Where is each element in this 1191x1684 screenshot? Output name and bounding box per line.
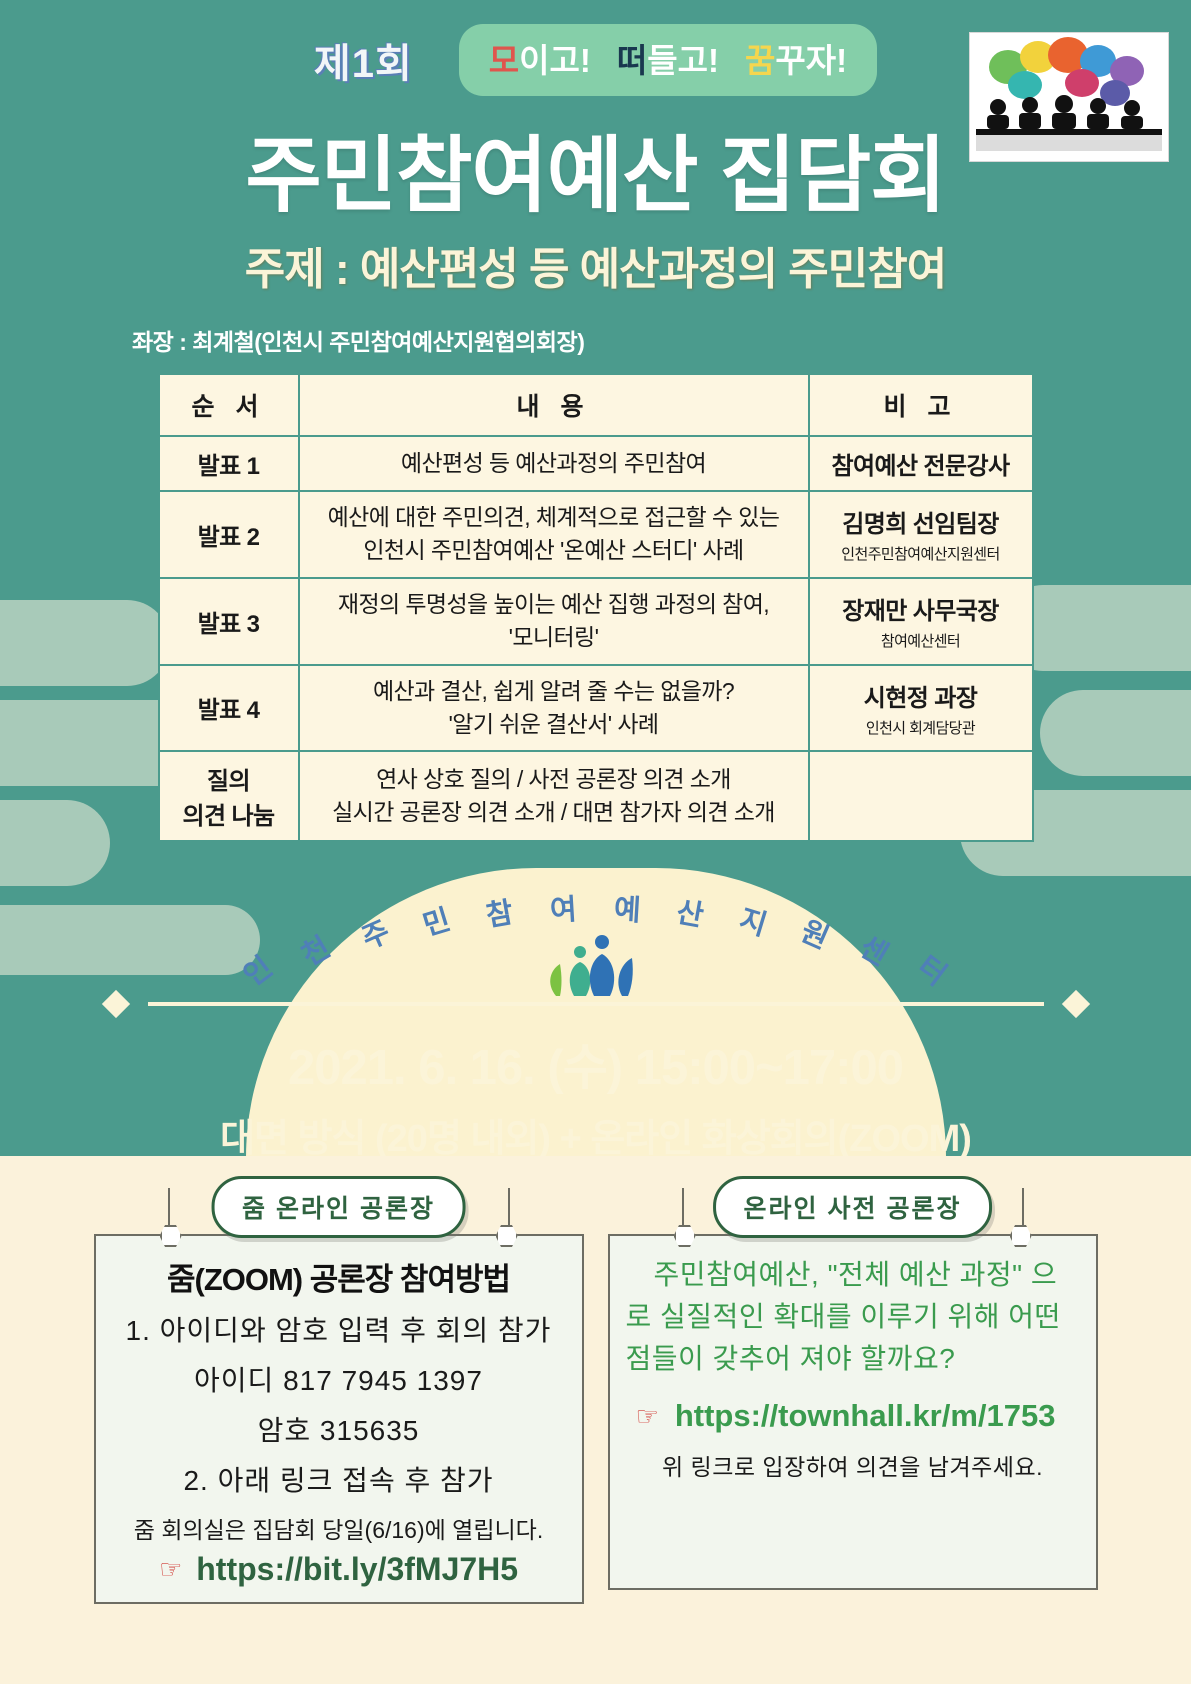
subject-line: 주제 : 예산편성 등 예산과정의 주민참여 [0,233,1191,297]
forum-panel-tab: 온라인 사전 공론장 [713,1176,993,1238]
row-detail-line: 인천시 주민참여예산 '온예산 스터디' 사례 [304,534,804,567]
forum-panel: 온라인 사전 공론장 주민참여예산, "전체 예산 과정" 으로 실질적인 확대… [608,1234,1098,1604]
center-arch-text: 인천주민참여예산지원센터 [429,886,761,928]
zoom-meeting-id: 아이디 817 7945 1397 [112,1359,566,1399]
decor-shape [1040,690,1191,776]
slogan-3-highlight: 꿈 [745,42,775,79]
zoom-panel-body: 줌(ZOOM) 공론장 참여방법 1. 아이디와 암호 입력 후 회의 참가 아… [94,1234,584,1604]
row-note: 김명희 선임팀장 인천주민참여예산지원센터 [809,491,1033,578]
table-row: 질의 의견 나눔 연사 상호 질의 / 사전 공론장 의견 소개 실시간 공론장… [159,751,1033,841]
event-date: 2021. 6. 16. (수) 15:00~17:00 [0,1028,1191,1099]
row-detail: 예산에 대한 주민의견, 체계적으로 접근할 수 있는 인천시 주민참여예산 '… [299,491,809,578]
row-detail-line: 연사 상호 질의 / 사전 공론장 의견 소개 [304,763,804,796]
forum-question: 주민참여예산, "전체 예산 과정" 으로 실질적인 확대를 이루기 위해 어떤… [626,1254,1080,1380]
table-row: 발표 1 예산편성 등 예산과정의 주민참여 참여예산 전문강사 [159,436,1033,491]
diamond-right-icon [1061,990,1089,1018]
event-mode: 대면 방식 (20명 내외) + 온라인 화상회의(ZOOM) [0,1107,1191,1162]
row-note-sub: 참여예산센터 [814,630,1028,651]
row-detail-line: 실시간 공론장 의견 소개 / 대면 참가자 의견 소개 [304,796,804,829]
zoom-link-row[interactable]: ☞ https://bit.ly/3fMJ7H5 [112,1551,566,1588]
zoom-step-1: 1. 아이디와 암호 입력 후 회의 참가 [112,1309,566,1349]
row-detail-line: 예산과 결산, 쉽게 알려 줄 수는 없을까? [304,675,804,708]
table-header-row: 순 서 내 용 비 고 [159,374,1033,436]
row-order: 질의 의견 나눔 [159,751,299,841]
header-top-row: 제1회 모이고! 떠들고! 꿈꾸자! [0,24,1191,96]
zoom-password: 암호 315635 [112,1409,566,1449]
poster-header: 제1회 모이고! 떠들고! 꿈꾸자! [0,0,1191,357]
row-order: 발표 1 [159,436,299,491]
row-note-main: 장재만 사무국장 [814,591,1028,626]
slogan-3-rest: 꾸자! [775,42,847,79]
row-detail-line: 예산에 대한 주민의견, 체계적으로 접근할 수 있는 [304,501,804,534]
row-note-sub: 인천시 회계담당관 [814,717,1028,738]
zoom-note: 줌 회의실은 집담회 당일(6/16)에 열립니다. [112,1511,566,1545]
row-order: 발표 4 [159,665,299,752]
table-row: 발표 3 재정의 투명성을 높이는 예산 집행 과정의 참여, '모니터링' 장… [159,578,1033,665]
panel-row: 줌 온라인 공론장 줌(ZOOM) 공론장 참여방법 1. 아이디와 암호 입력… [0,1156,1191,1604]
slogan-item-1: 모이고! [489,34,591,82]
table-row: 발표 2 예산에 대한 주민의견, 체계적으로 접근할 수 있는 인천시 주민참… [159,491,1033,578]
forum-note: 위 링크로 입장하여 의견을 남겨주세요. [626,1448,1080,1482]
ordinal-label: 제1회 [314,31,413,89]
organization-logo [969,32,1169,162]
row-detail-line: '모니터링' [304,621,804,654]
divider-top [148,1002,1044,1006]
row-note [809,751,1033,841]
forum-link-row[interactable]: ☞ https://townhall.kr/m/1753 [626,1398,1080,1434]
slogan-1-rest: 이고! [519,42,591,79]
column-header-detail: 내 용 [299,374,809,436]
row-detail-line: 재정의 투명성을 높이는 예산 집행 과정의 참여, [304,588,804,621]
row-detail-line: '알기 쉬운 결산서' 사례 [304,708,804,741]
column-header-note: 비 고 [809,374,1033,436]
poster-root: 제1회 모이고! 떠들고! 꿈꾸자! [0,0,1191,1684]
row-note: 시현정 과장 인천시 회계담당관 [809,665,1033,752]
row-note-main: 참여예산 전문강사 [814,446,1028,481]
row-note-main: 시현정 과장 [814,678,1028,713]
chair-line: 좌장 : 최계철(인천시 주민참여예산지원협의회장) [132,323,1191,357]
center-arch: 인천주민참여예산지원센터 [0,868,1191,994]
row-detail: 예산과 결산, 쉽게 알려 줄 수는 없을까? '알기 쉬운 결산서' 사례 [299,665,809,752]
forum-link[interactable]: https://townhall.kr/m/1753 [675,1398,1056,1434]
slogan-item-3: 꿈꾸자! [745,34,847,82]
row-order-line: 질의 [164,761,294,796]
program-table: 순 서 내 용 비 고 발표 1 예산편성 등 예산과정의 주민참여 참여예산 … [158,373,1034,842]
zoom-panel: 줌 온라인 공론장 줌(ZOOM) 공론장 참여방법 1. 아이디와 암호 입력… [94,1234,584,1604]
slogan-1-highlight: 모 [489,42,519,79]
zoom-heading: 줌(ZOOM) 공론장 참여방법 [112,1254,566,1299]
row-detail-line: 예산편성 등 예산과정의 주민참여 [304,447,804,480]
row-order-line: 의견 나눔 [164,796,294,831]
table-row: 발표 4 예산과 결산, 쉽게 알려 줄 수는 없을까? '알기 쉬운 결산서'… [159,665,1033,752]
column-header-order: 순 서 [159,374,299,436]
diamond-left-icon [101,990,129,1018]
decor-shape [0,600,170,686]
speech-bubbles-people-logo-icon [970,33,1168,161]
center-arch-label: 인천주민참여예산지원센터 [276,886,916,928]
row-detail: 연사 상호 질의 / 사전 공론장 의견 소개 실시간 공론장 의견 소개 / … [299,751,809,841]
row-detail: 재정의 투명성을 높이는 예산 집행 과정의 참여, '모니터링' [299,578,809,665]
row-note: 참여예산 전문강사 [809,436,1033,491]
forum-panel-body: 주민참여예산, "전체 예산 과정" 으로 실질적인 확대를 이루기 위해 어떤… [608,1234,1098,1590]
zoom-link[interactable]: https://bit.ly/3fMJ7H5 [196,1551,518,1588]
row-order: 발표 2 [159,491,299,578]
pointing-hand-icon: ☞ [159,1554,182,1585]
slogan-item-2: 떠들고! [617,34,719,82]
row-note-sub: 인천주민참여예산지원센터 [814,543,1028,564]
three-people-logo-icon [536,930,656,1000]
slogan-box: 모이고! 떠들고! 꿈꾸자! [459,24,877,96]
slogan-2-rest: 들고! [647,42,719,79]
row-note: 장재만 사무국장 참여예산센터 [809,578,1033,665]
pointing-hand-icon: ☞ [636,1401,659,1432]
row-note-main: 김명희 선임팀장 [814,504,1028,539]
row-detail: 예산편성 등 예산과정의 주민참여 [299,436,809,491]
bottom-section: 줌 온라인 공론장 줌(ZOOM) 공론장 참여방법 1. 아이디와 암호 입력… [0,1156,1191,1684]
zoom-panel-tab: 줌 온라인 공론장 [211,1176,466,1238]
row-order: 발표 3 [159,578,299,665]
zoom-step-2: 2. 아래 링크 접속 후 참가 [112,1459,566,1499]
slogan-2-highlight: 떠 [617,42,647,79]
